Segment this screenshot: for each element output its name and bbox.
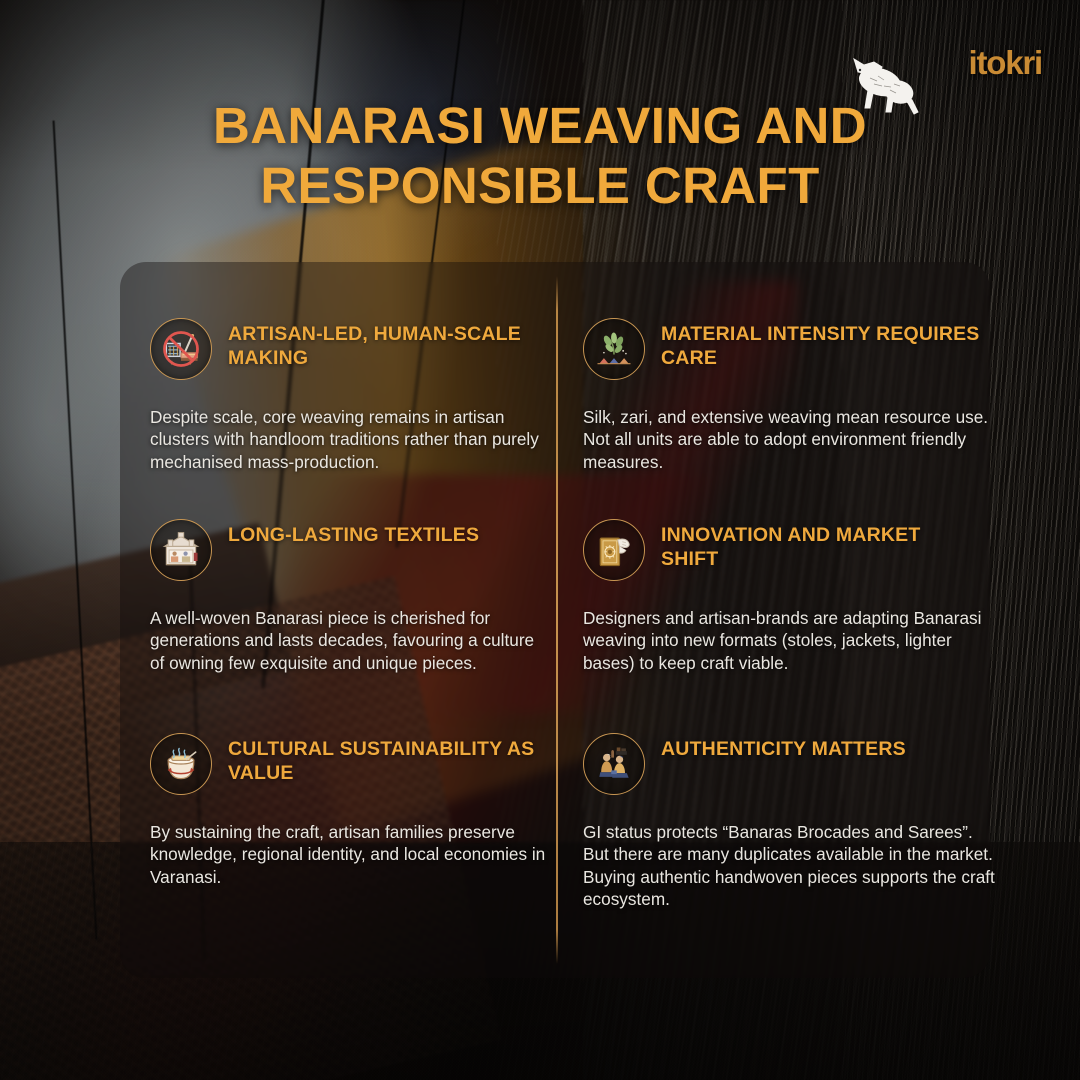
column-divider [556,276,558,964]
card-icon-badge [150,519,212,581]
card-body: By sustaining the craft, artisan familie… [150,821,548,888]
card-icon-badge [150,733,212,795]
infographic-canvas: BANARASI WEAVING AND RESPONSIBLE CRAFT i… [0,0,1080,1080]
card-title: AUTHENTICITY MATTERS [661,733,906,762]
card-icon-badge [583,733,645,795]
hand-holding-brocade-icon [592,528,636,572]
card-title: MATERIAL INTENSITY REQUIRES CARE [661,318,983,371]
steaming-pot-icon [159,742,203,786]
card-body: GI status protects “Banaras Brocades and… [583,821,995,910]
cat-icon [844,50,928,122]
info-card: MATERIAL INTENSITY REQUIRES CARE Silk, z… [583,318,983,473]
info-card: INNOVATION AND MARKET SHIFT Designers an… [583,519,983,674]
craft-shop-icon [159,528,203,572]
card-body: Silk, zari, and extensive weaving mean r… [583,406,995,473]
leaves-sprout-icon [592,327,636,371]
no-factory-loom-icon [159,327,203,371]
header: BANARASI WEAVING AND RESPONSIBLE CRAFT i… [0,0,1080,262]
card-body: Designers and artisan-brands are adaptin… [583,607,995,674]
card-icon-badge [150,318,212,380]
info-card: AUTHENTICITY MATTERS GI status protects … [583,733,983,910]
card-body: Despite scale, core weaving remains in a… [150,406,548,473]
info-card: ARTISAN-LED, HUMAN-SCALE MAKING Despite … [150,318,550,473]
card-icon-badge [583,519,645,581]
card-title: INNOVATION AND MARKET SHIFT [661,519,983,572]
two-artisans-seated-icon [592,742,636,786]
info-card: LONG-LASTING TEXTILES A well-woven Banar… [150,519,550,674]
card-title: CULTURAL SUSTAINABILITY AS VALUE [228,733,550,786]
card-title: LONG-LASTING TEXTILES [228,519,479,548]
card-title: ARTISAN-LED, HUMAN-SCALE MAKING [228,318,550,371]
info-card: CULTURAL SUSTAINABILITY AS VALUE By sust… [150,733,550,888]
brand-logo: itokri [969,44,1042,82]
card-icon-badge [583,318,645,380]
card-body: A well-woven Banarasi piece is cherished… [150,607,548,674]
